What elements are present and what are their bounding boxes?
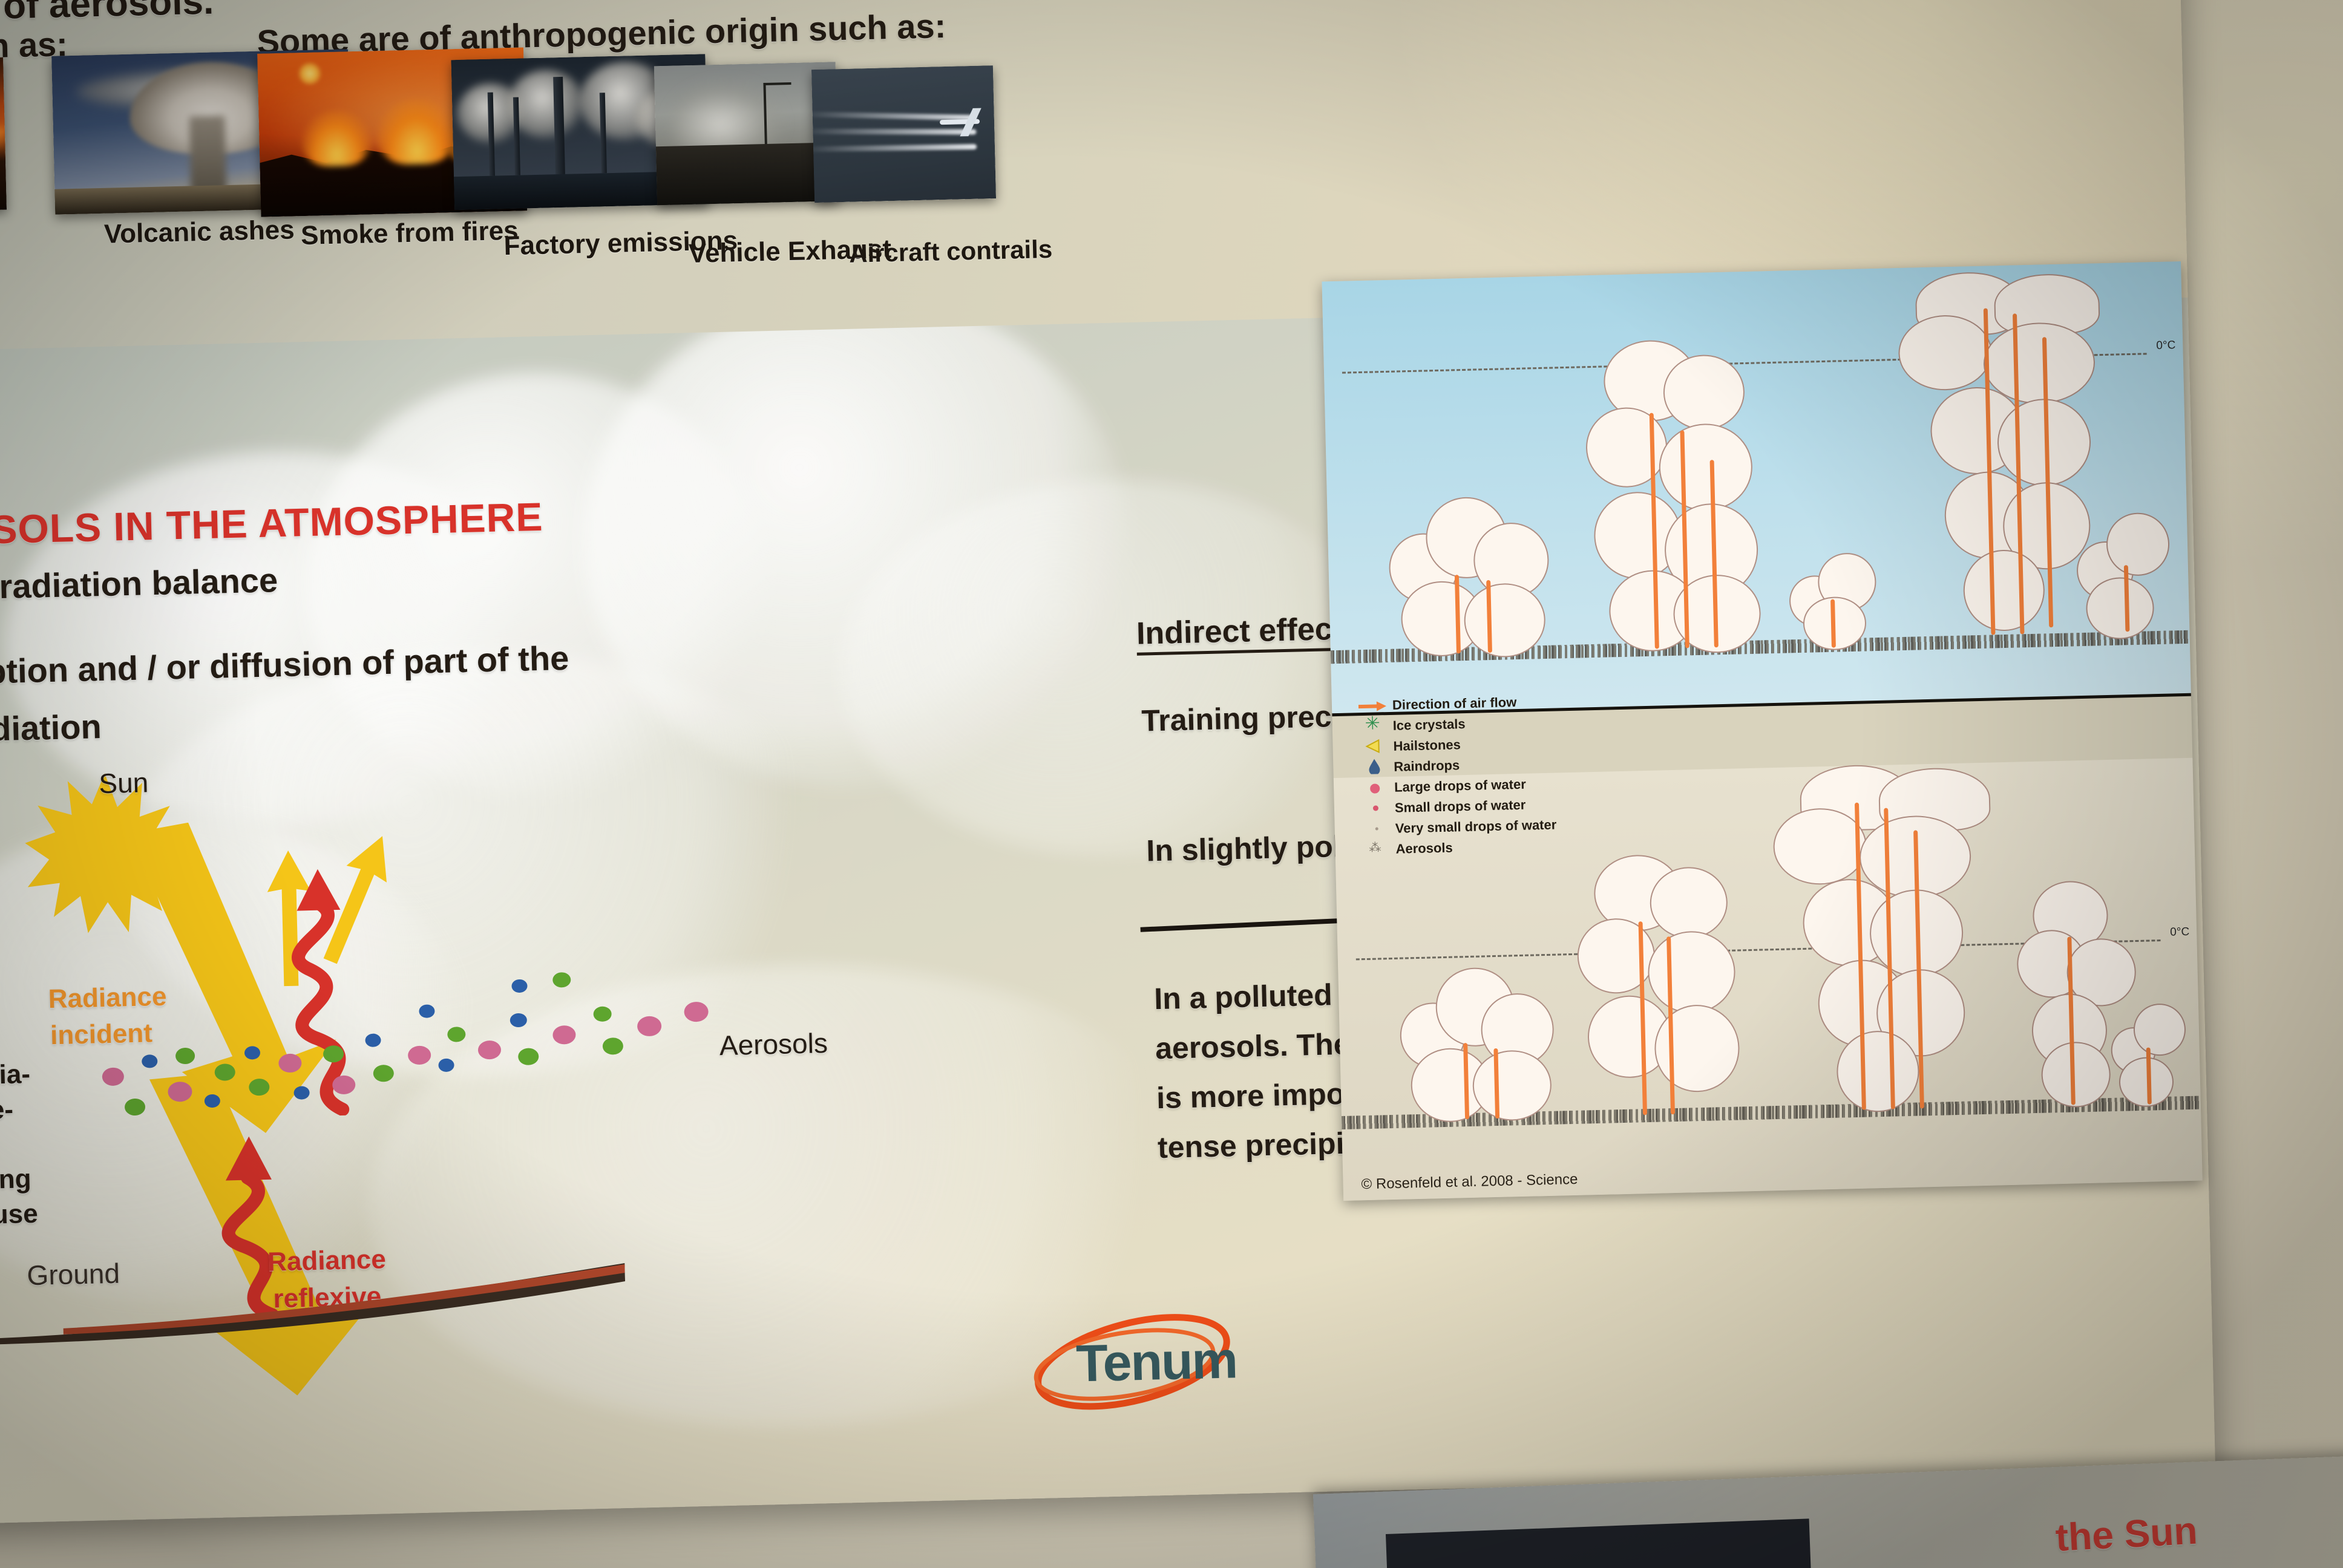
radiance-incident-label-line2: incident	[50, 1018, 153, 1051]
radiance-reflexive-wave-icon-1	[277, 860, 385, 1117]
legend-row-2: Hailstones	[1393, 737, 1461, 754]
cloud-stage-1-top	[1381, 464, 1555, 656]
direct-effect-line2: radiation	[0, 707, 102, 750]
legend-label-6: Very small drops of water	[1395, 817, 1556, 836]
cloud-stage-2-top	[1571, 338, 1778, 651]
legend-label-3: Raindrops	[1394, 757, 1460, 774]
clipped-text-line3: arming	[0, 1164, 31, 1196]
legend-row-4: Large drops of water	[1394, 777, 1526, 795]
legend-label-5: Small drops of water	[1395, 797, 1526, 815]
aerosols-label: Aerosols	[719, 1027, 828, 1062]
clipped-text-line1: r radia-	[0, 1059, 30, 1092]
arrow-icon	[1357, 700, 1388, 713]
cloud-stage-3-top	[1788, 543, 1893, 648]
legend-label-2: Hailstones	[1393, 737, 1461, 754]
caption-smoke-from-fires: Smoke from fires	[301, 216, 519, 251]
freezing-level-label-bottom: 0°C	[2170, 926, 2189, 939]
legend-row-7: Aerosols	[1395, 840, 1453, 857]
tenum-logo-text: Tenum	[1075, 1330, 1237, 1394]
bottom-poster-text: the Sun	[2054, 1508, 2198, 1560]
ground-label: Ground	[27, 1257, 120, 1292]
radiance-incident-label-line1: Radiance	[48, 982, 167, 1015]
cloud-stage-5-bottom	[2108, 993, 2195, 1104]
legend-label-0: Direction of air flow	[1392, 694, 1517, 713]
aerosol-speck-icon: ⁂	[1369, 841, 1381, 854]
tenum-logo: Tenum	[1019, 1305, 1276, 1420]
legend-label-7: Aerosols	[1395, 840, 1453, 857]
clipped-text-line2: re de-	[0, 1095, 14, 1127]
teardrop-icon	[1368, 758, 1381, 774]
legend-label-4: Large drops of water	[1394, 777, 1526, 795]
triangle-icon	[1365, 739, 1381, 754]
clipped-text-line4: nhouse	[0, 1199, 38, 1232]
caption-volcanic-ashes: Volcanic ashes	[103, 215, 295, 249]
photo-vehicle-exhaust	[654, 62, 839, 205]
poster-photograph: pes of aerosols. such as: Some are of an…	[0, 0, 2343, 1568]
legend-row-5: Small drops of water	[1395, 797, 1526, 816]
cloud-formation-figure: 0°C	[1322, 261, 2202, 1201]
legend-row-3: Raindrops	[1394, 757, 1460, 775]
aerosol-poster: pes of aerosols. such as: Some are of an…	[0, 0, 2215, 1524]
cloud-stage-1-bottom	[1392, 942, 1559, 1121]
cloud-stage-3-bottom	[1757, 762, 2019, 1112]
asterisk-icon: ✳	[1365, 714, 1380, 733]
cloud-stage-5-top	[2071, 497, 2183, 639]
legend-row-1: Ice crystals	[1392, 716, 1465, 734]
legend-row-0: Direction of air flow	[1392, 694, 1517, 713]
cloud-stage-2-bottom	[1565, 852, 1753, 1117]
sun-label: Sun	[99, 766, 149, 800]
caption-aircraft-contrails: Aircraft contrails	[849, 235, 1053, 269]
photo-sunset-clipped	[0, 57, 7, 213]
indirect-effect-heading-underlined: Indirect effect	[1136, 612, 1343, 656]
freezing-level-label-top: 0°C	[2156, 339, 2175, 353]
photo-aircraft-contrails	[811, 65, 996, 203]
legend-label-1: Ice crystals	[1392, 716, 1465, 733]
